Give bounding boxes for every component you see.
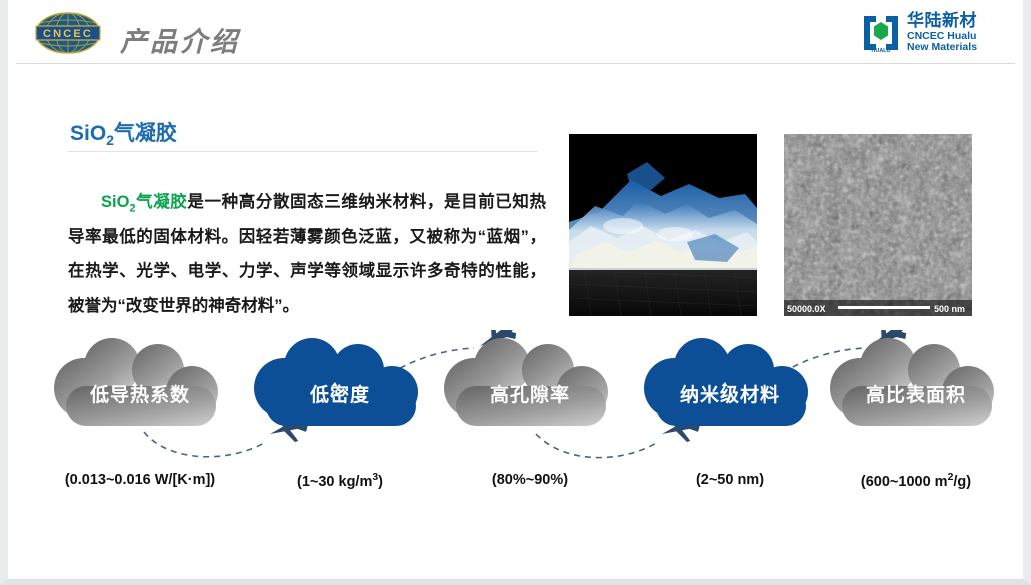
svg-text:HUALU: HUALU bbox=[871, 48, 890, 53]
cloud-value-1-post: ) bbox=[378, 474, 383, 490]
cloud-item-3[interactable]: 纳米级材料 (2~50 nm) bbox=[632, 330, 828, 438]
page-title: 产品介绍 bbox=[120, 20, 240, 59]
hualu-logo-mark-icon: HUALU bbox=[861, 13, 901, 53]
header-divider bbox=[16, 63, 1015, 64]
sem-micrograph: 50000.0X 500 nm bbox=[784, 134, 972, 316]
cloud-item-0[interactable]: 低导热系数 (0.013~0.016 W/[K·m]) bbox=[42, 330, 238, 438]
body-paragraph: SiO2气凝胶是一种高分散固态三维纳米材料，是目前已知热导率最低的固体材料。因轻… bbox=[68, 185, 546, 324]
slide-canvas: CNCEC 产品介绍 HUALU 华陆新材 CNCEC Hualu New Ma… bbox=[0, 0, 1031, 585]
cloud-row: 低导热系数 (0.013~0.016 W/[K·m]) 低密度 (1~30 kg… bbox=[8, 330, 1023, 510]
section-heading-tail: 气凝胶 bbox=[114, 122, 177, 145]
body-highlight-tail: 气凝胶 bbox=[136, 193, 188, 211]
cloud-value-4: (600~1000 m2/g) bbox=[804, 472, 1028, 490]
cloud-shape-0 bbox=[42, 330, 238, 438]
cloud-shape-2 bbox=[432, 330, 628, 438]
cloud-item-2[interactable]: 高孔隙率 (80%~90%) bbox=[432, 330, 628, 438]
cloud-value-0: (0.013~0.016 W/[K·m]) bbox=[28, 472, 252, 488]
cncec-logo-text: CNCEC bbox=[43, 28, 93, 40]
hualu-logo-text: 华陆新材 CNCEC Hualu New Materials bbox=[907, 12, 977, 53]
body-highlight-main: SiO bbox=[101, 193, 129, 211]
hualu-logo: HUALU 华陆新材 CNCEC Hualu New Materials bbox=[861, 10, 1005, 56]
cloud-value-4-post: /g) bbox=[953, 474, 971, 490]
sem-magnification-label: 50000.0X bbox=[787, 304, 826, 314]
cloud-item-1[interactable]: 低密度 (1~30 kg/m3) bbox=[242, 330, 438, 438]
hualu-logo-cn: 华陆新材 bbox=[907, 12, 977, 30]
cloud-value-2: (80%~90%) bbox=[418, 472, 642, 488]
section-heading-sub: 2 bbox=[106, 132, 114, 148]
cloud-value-1-pre: (1~30 kg/m bbox=[297, 474, 372, 490]
cloud-item-4[interactable]: 高比表面积 (600~1000 m2/g) bbox=[818, 330, 1014, 438]
cncec-logo: CNCEC bbox=[30, 11, 106, 55]
sem-scale-label: 500 nm bbox=[934, 304, 965, 314]
hualu-logo-en-line2: New Materials bbox=[907, 42, 977, 53]
cloud-shape-3 bbox=[632, 330, 828, 438]
cloud-shape-4 bbox=[818, 330, 1014, 438]
section-heading-underline bbox=[68, 151, 538, 152]
cloud-shape-1 bbox=[242, 330, 438, 438]
cloud-value-4-pre: (600~1000 m bbox=[861, 474, 948, 490]
aerogel-sample-photo bbox=[569, 134, 757, 316]
section-heading: SiO2气凝胶 bbox=[70, 117, 177, 148]
section-heading-main: SiO bbox=[70, 122, 106, 145]
slide-header: CNCEC 产品介绍 HUALU 华陆新材 CNCEC Hualu New Ma… bbox=[8, 0, 1023, 64]
